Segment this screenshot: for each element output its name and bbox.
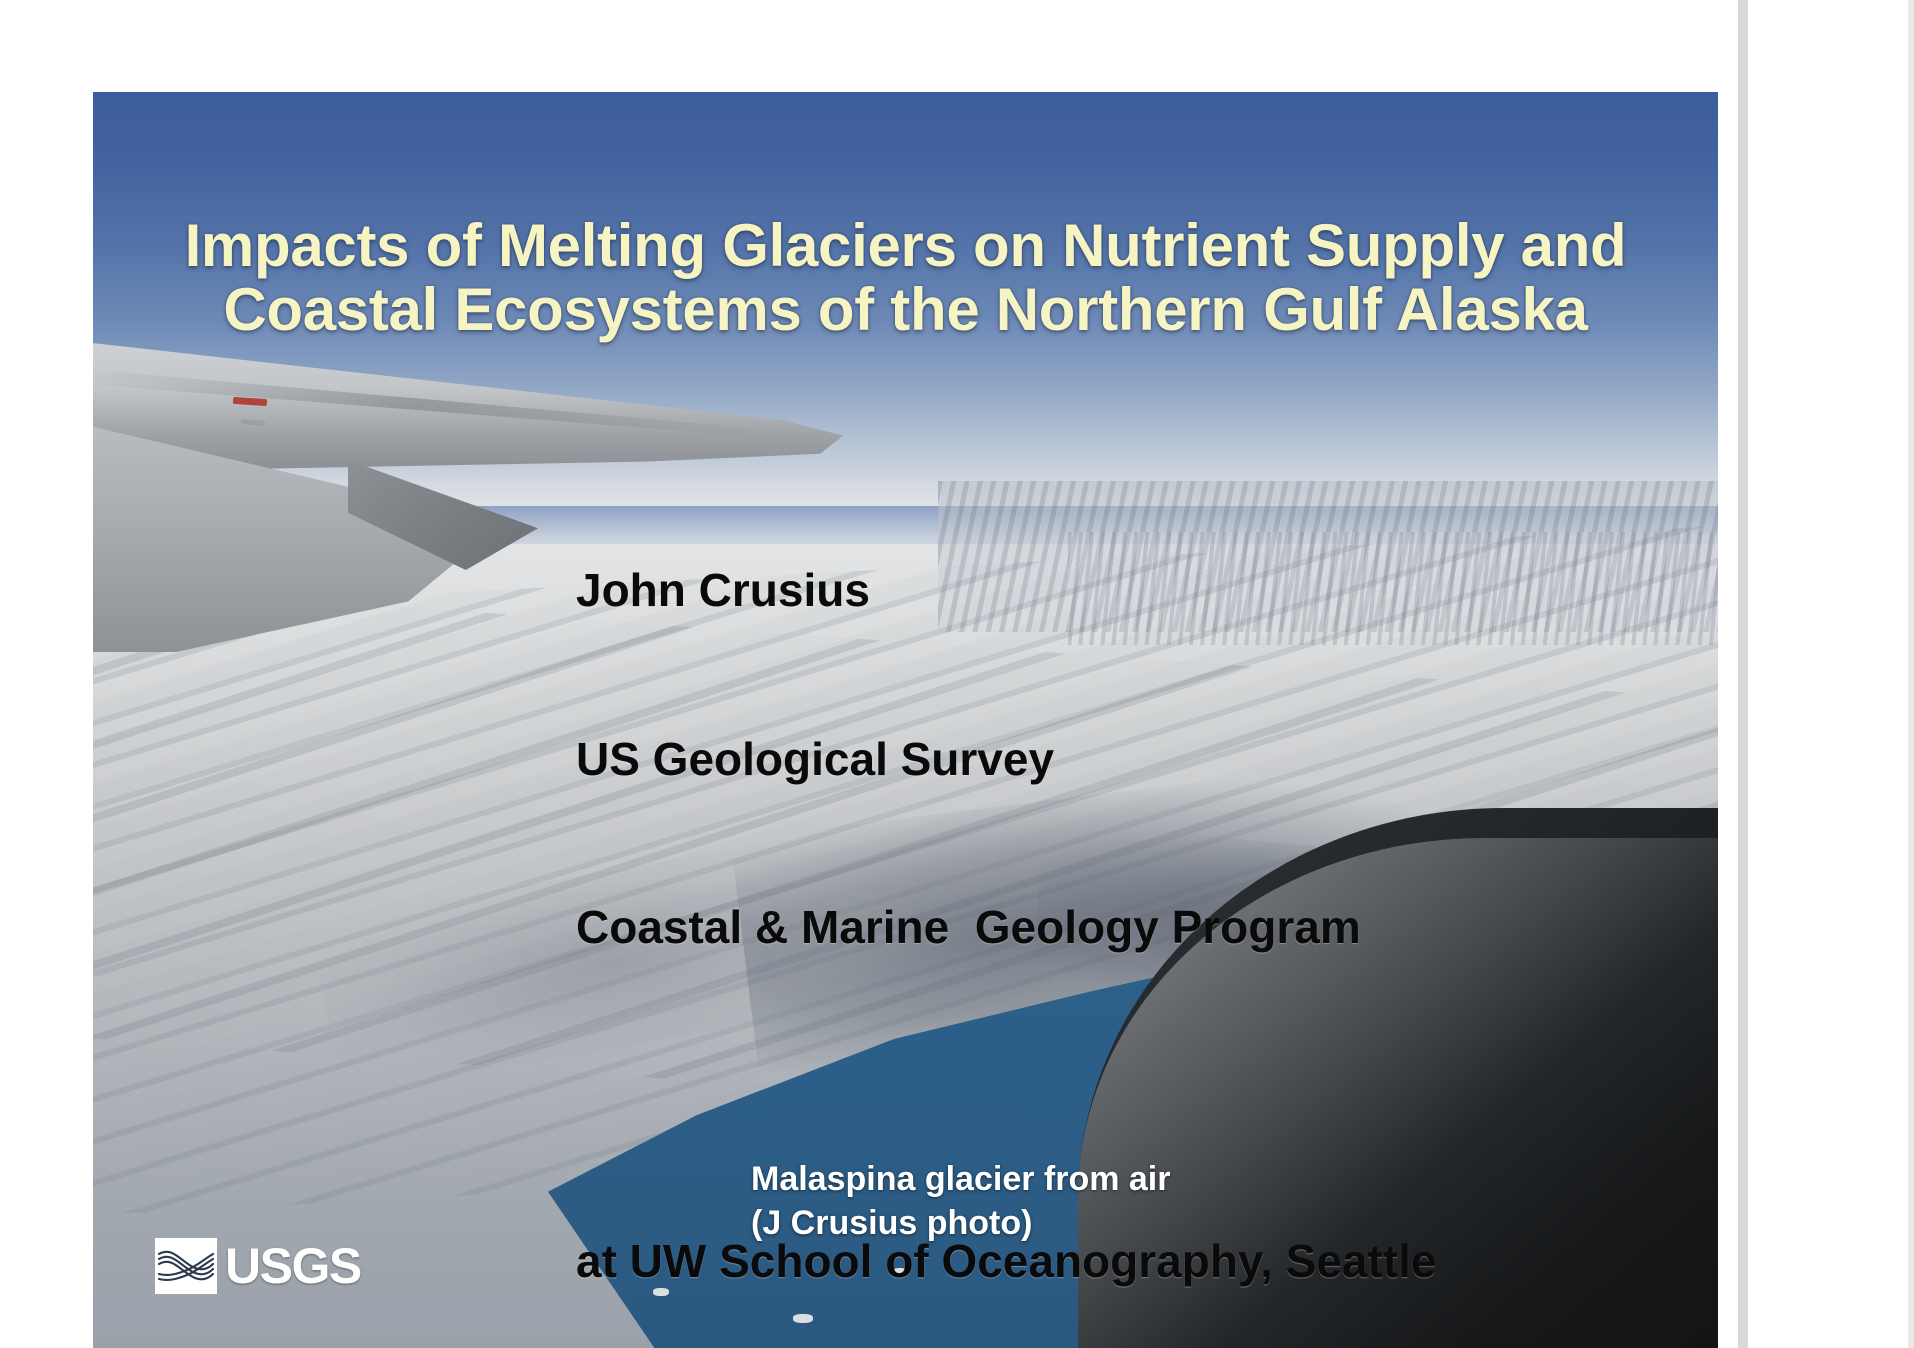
photo-caption-line-1: Malaspina glacier from air	[751, 1158, 1171, 1202]
slide-title-line-2: Coastal Ecosystems of the Northern Gulf …	[119, 278, 1692, 342]
screenshot-page: Impacts of Melting Glaciers on Nutrient …	[0, 0, 1914, 1348]
author-agency: US Geological Survey	[576, 731, 1437, 787]
photo-caption-line-2: (J Crusius photo)	[751, 1202, 1171, 1246]
right-edge-strip	[1908, 0, 1914, 1348]
author-block-spacer	[576, 1067, 1437, 1121]
author-program: Coastal & Marine Geology Program	[576, 899, 1437, 955]
photo-caption: Malaspina glacier from air (J Crusius ph…	[751, 1158, 1171, 1245]
slide-title-line-1: Impacts of Melting Glaciers on Nutrient …	[119, 214, 1692, 278]
slide-title: Impacts of Melting Glaciers on Nutrient …	[93, 214, 1718, 342]
title-slide: Impacts of Melting Glaciers on Nutrient …	[93, 92, 1718, 1348]
usgs-wave-mark-icon	[155, 1238, 217, 1294]
right-gutter-strip	[1738, 0, 1748, 1348]
usgs-logo: USGS	[155, 1238, 361, 1294]
usgs-wordmark: USGS	[225, 1241, 361, 1291]
author-name: John Crusius	[576, 562, 1437, 618]
